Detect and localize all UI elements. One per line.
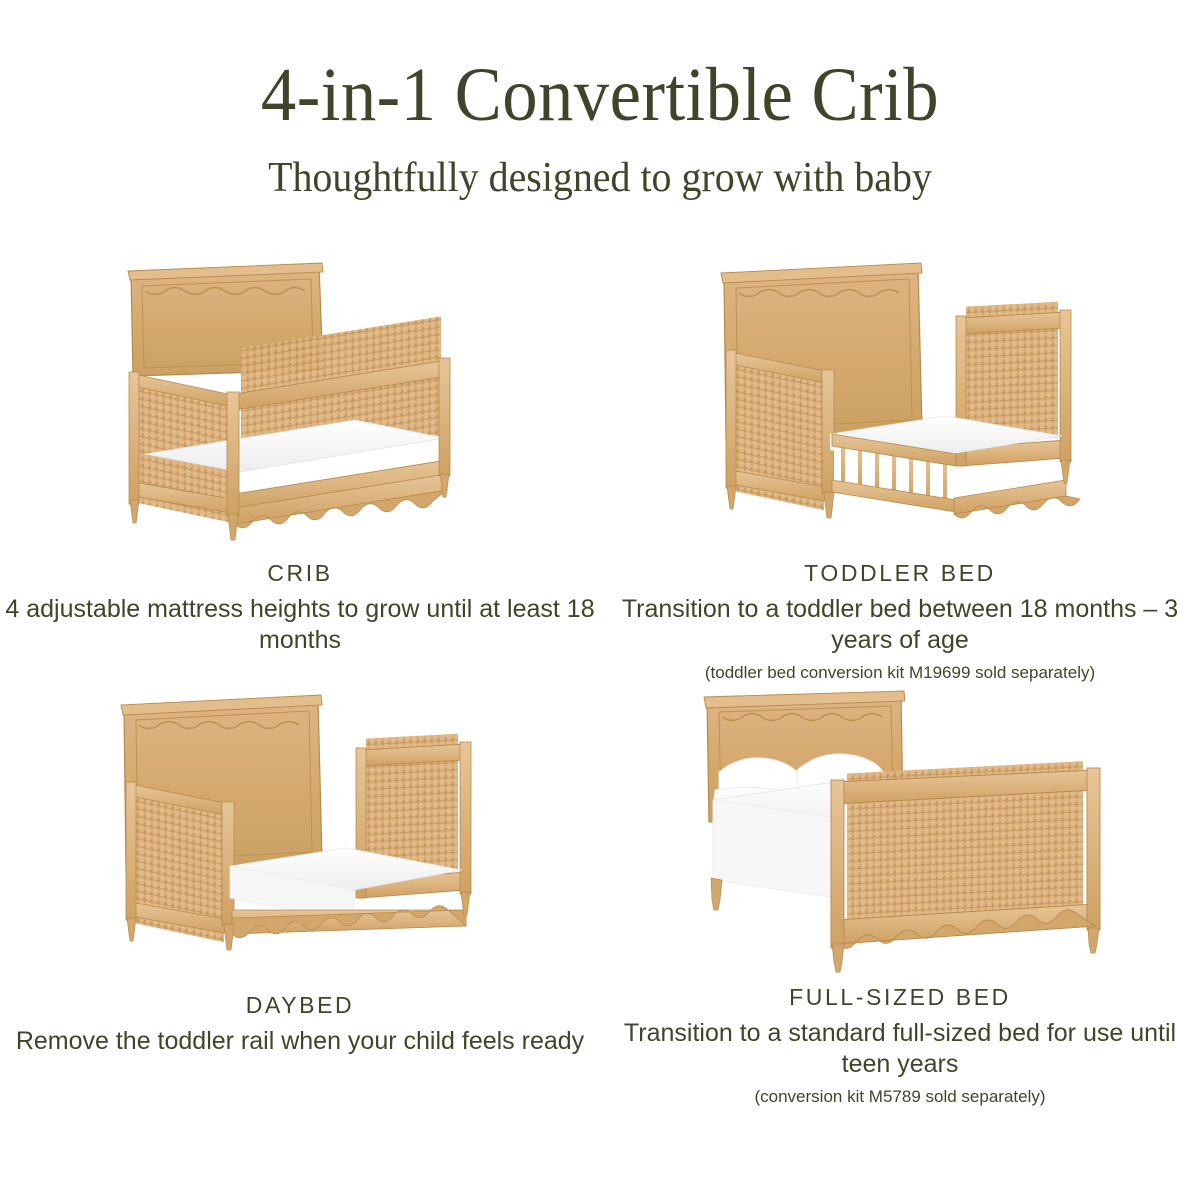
caption-full-sized-bed: FULL-SIZED BED Transition to a standard … <box>600 982 1200 1110</box>
header: 4-in-1 Convertible Crib Thoughtfully des… <box>0 52 1200 204</box>
caption-description: 4 adjustable mattress heights to grow un… <box>0 594 600 656</box>
skirt <box>232 906 466 938</box>
caption-daybed: DAYBED Remove the toddler rail when your… <box>0 990 600 1057</box>
page-title: 4-in-1 Convertible Crib <box>42 52 1158 138</box>
daybed-svg <box>110 690 490 980</box>
panel-toddler-bed: TODDLER BED Transition to a toddler bed … <box>600 258 1200 686</box>
caption-description: Transition to a standard full-sized bed … <box>600 1018 1200 1080</box>
caption-toddler-bed: TODDLER BED Transition to a toddler bed … <box>600 558 1200 686</box>
crib-illustration <box>0 258 600 558</box>
caption-description: Remove the toddler rail when your child … <box>0 1026 600 1057</box>
full-sized-bed-svg <box>685 682 1115 982</box>
toddler-bed-illustration <box>600 258 1200 558</box>
crib-svg <box>115 258 485 548</box>
full-sized-bed-illustration <box>600 682 1200 982</box>
side-rail-left <box>126 782 234 942</box>
caption-note: (conversion kit M5789 sold separately) <box>600 1084 1200 1110</box>
panel-daybed: DAYBED Remove the toddler rail when your… <box>0 690 600 1057</box>
caption-label: FULL-SIZED BED <box>600 982 1200 1012</box>
toddler-bed-svg <box>710 258 1090 548</box>
skirt <box>954 480 1080 518</box>
side-rail-left <box>726 350 834 510</box>
page-subtitle: Thoughtfully designed to grow with baby <box>30 152 1170 204</box>
panel-crib: CRIB 4 adjustable mattress heights to gr… <box>0 258 600 656</box>
panel-full-sized-bed: FULL-SIZED BED Transition to a standard … <box>600 682 1200 1110</box>
caption-description: Transition to a toddler bed between 18 m… <box>600 594 1200 656</box>
caption-label: TODDLER BED <box>600 558 1200 588</box>
caption-crib: CRIB 4 adjustable mattress heights to gr… <box>0 558 600 656</box>
daybed-illustration <box>0 690 600 990</box>
caption-label: DAYBED <box>0 990 600 1020</box>
caption-label: CRIB <box>0 558 600 588</box>
conversion-grid: CRIB 4 adjustable mattress heights to gr… <box>0 258 1200 1198</box>
infographic-page: 4-in-1 Convertible Crib Thoughtfully des… <box>0 0 1200 1200</box>
